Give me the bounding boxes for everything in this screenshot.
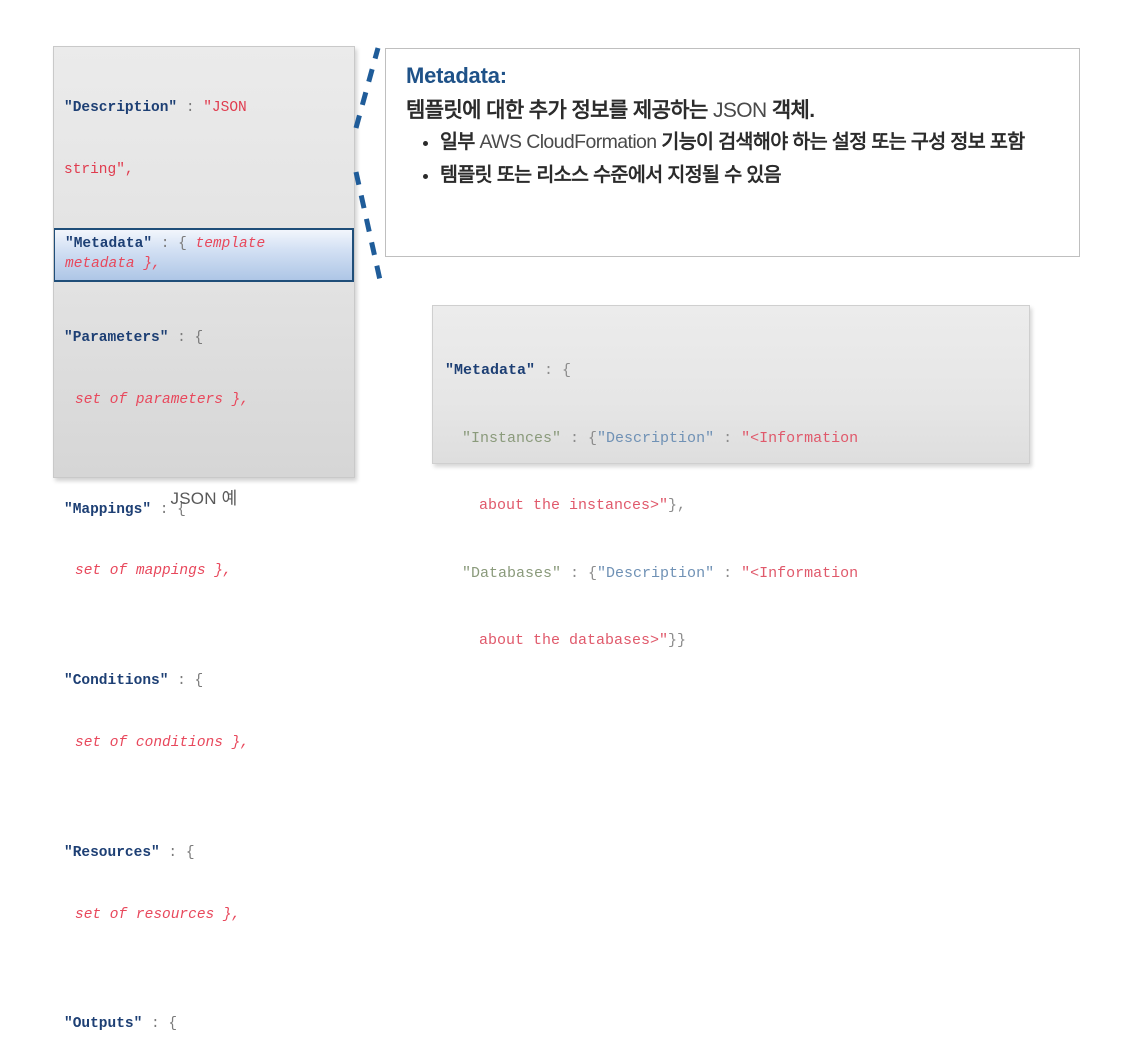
code-key-description-databases: "Description" [597, 565, 714, 582]
json-entry-resources: "Resources" : { set of resources }, [54, 799, 354, 971]
code-punct-5: }} [668, 632, 686, 649]
json-value-description: "JSON [203, 100, 247, 116]
json-entry-description: "Description" : "JSON string", [54, 54, 354, 226]
metadata-description-lead: 템플릿에 대한 추가 정보를 제공하는 JSON 객체. [406, 94, 1063, 124]
code-line-2: "Instances" : {"Description" : "<Informa… [445, 428, 1021, 451]
json-key-metadata: "Metadata" [65, 236, 152, 252]
metadata-bullet-list: 일부 AWS CloudFormation 기능이 검색해야 하는 설정 또는 … [406, 130, 1063, 188]
json-value-resources: set of resources }, [75, 907, 240, 923]
json-punct-conditions: : { [168, 673, 203, 689]
lead-text-part3: 객체. [767, 99, 815, 122]
json-example-caption: JSON 예 [53, 484, 355, 509]
lead-text-json: JSON [713, 99, 767, 122]
code-punct-2b: : [714, 430, 741, 447]
json-punct-metadata: : { [152, 236, 187, 252]
json-punct-description: : [177, 100, 203, 116]
json-line-outputs-1: "Outputs" : { [64, 1014, 344, 1035]
code-key-databases: "Databases" [462, 565, 561, 582]
lead-text-part1: 템플릿에 대한 추가 정보를 제공하는 [406, 99, 713, 122]
code-value-instances-2: about the instances>" [479, 497, 668, 514]
code-value-instances-1: "<Information [741, 430, 858, 447]
json-line-resources-1: "Resources" : { [64, 843, 344, 864]
json-key-resources: "Resources" [64, 845, 160, 861]
json-value-description-cont: string", [64, 162, 134, 178]
json-value-conditions: set of conditions }, [75, 735, 249, 751]
json-line-mappings-2: set of mappings }, [64, 561, 344, 582]
json-line-parameters-1: "Parameters" : { [64, 328, 344, 349]
json-punct-resources: : { [160, 845, 195, 861]
bullet-1-part3: 기능이 검색해야 하는 설정 또는 구성 정보 포함 [657, 131, 1025, 153]
bullet-2-part3: 템플릿 또는 리소스 수준에서 지정될 수 있음 [440, 164, 781, 186]
code-punct-4b: : [714, 565, 741, 582]
code-key-instances: "Instances" [462, 430, 561, 447]
metadata-bullet-item: 템플릿 또는 리소스 수준에서 지정될 수 있음 [440, 163, 1063, 189]
metadata-bullet-item: 일부 AWS CloudFormation 기능이 검색해야 하는 설정 또는 … [440, 130, 1063, 156]
bullet-1-part1: 일부 [440, 131, 480, 153]
code-punct-4a: : { [561, 565, 597, 582]
json-entry-conditions: "Conditions" : { set of conditions }, [54, 627, 354, 799]
code-line-5: about the databases>"}} [445, 630, 1021, 653]
bullet-1-aws-cloudformation: AWS CloudFormation [480, 131, 657, 153]
callout-line-lower [356, 172, 380, 280]
metadata-description-panel: Metadata: 템플릿에 대한 추가 정보를 제공하는 JSON 객체. 일… [385, 48, 1080, 257]
json-value-parameters: set of parameters }, [75, 392, 249, 408]
json-entry-outputs: "Outputs" : { set of outputs } [54, 970, 354, 1054]
code-key-metadata: "Metadata" [445, 362, 535, 379]
json-key-parameters: "Parameters" [64, 330, 168, 346]
json-line-description-2: string", [64, 160, 344, 181]
code-value-databases-1: "<Information [741, 565, 858, 582]
code-value-databases-2: about the databases>" [479, 632, 668, 649]
code-line-4: "Databases" : {"Description" : "<Informa… [445, 563, 1021, 586]
json-entry-parameters: "Parameters" : { set of parameters }, [54, 284, 354, 456]
code-punct-3: }, [668, 497, 686, 514]
json-line-description-1: "Description" : "JSON [64, 98, 344, 119]
json-line-conditions-1: "Conditions" : { [64, 671, 344, 692]
json-punct-outputs: : { [142, 1016, 177, 1032]
json-punct-parameters: : { [168, 330, 203, 346]
metadata-code-sample-box: "Metadata" : { "Instances" : {"Descripti… [432, 305, 1030, 464]
json-value-mappings: set of mappings }, [75, 563, 232, 579]
json-key-conditions: "Conditions" [64, 673, 168, 689]
callout-line-upper [356, 48, 378, 128]
json-key-description: "Description" [64, 100, 177, 116]
code-line-1: "Metadata" : { [445, 360, 1021, 383]
json-entry-metadata-highlighted[interactable]: "Metadata" : { template metadata }, [54, 228, 354, 282]
code-punct-2a: : { [561, 430, 597, 447]
json-key-outputs: "Outputs" [64, 1016, 142, 1032]
code-key-description-instances: "Description" [597, 430, 714, 447]
code-line-3: about the instances>"}, [445, 495, 1021, 518]
json-line-parameters-2: set of parameters }, [64, 390, 344, 411]
json-line-metadata-1: "Metadata" : { [65, 236, 187, 252]
json-line-conditions-2: set of conditions }, [64, 733, 344, 754]
metadata-description-title: Metadata: [406, 63, 1063, 89]
code-punct-1: : { [535, 362, 571, 379]
json-template-box: "Description" : "JSON string", "Metadata… [53, 46, 355, 478]
json-entry-mappings: "Mappings" : { set of mappings }, [54, 455, 354, 627]
json-line-resources-2: set of resources }, [64, 905, 344, 926]
